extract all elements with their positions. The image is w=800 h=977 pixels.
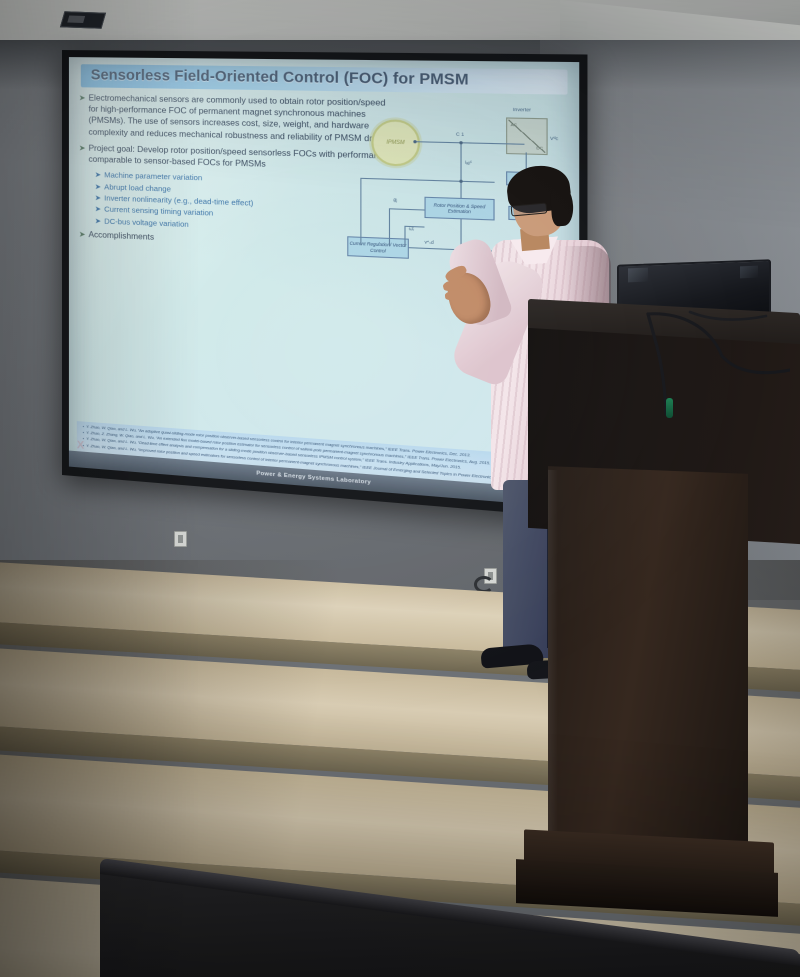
signal-label-theta: θ̂ᵣ — [393, 198, 397, 203]
inverter-label: Inverter — [513, 107, 531, 113]
presenter-hair-side — [550, 183, 575, 226]
inverter-ac-label: AC — [511, 122, 517, 128]
slide-title: Sensorless Field-Oriented Control (FOC) … — [91, 67, 561, 90]
subbullet-text: DC-bus voltage variation — [104, 216, 189, 230]
lecture-hall-photo: Sensorless Field-Oriented Control (FOC) … — [0, 0, 800, 977]
diagram-node — [413, 140, 416, 143]
signal-label-vdc: Vᵈc — [550, 136, 558, 142]
subbullet-marker-icon: ➤ — [95, 193, 101, 204]
diagram-wire — [404, 226, 405, 247]
current-regulation-block: Current Regulation/ Vector Control — [347, 236, 409, 259]
slide-footer-label: Power & Energy Systems Laboratory — [256, 471, 371, 486]
signal-label-c1: C 1 — [456, 131, 464, 137]
subbullet-marker-icon: ➤ — [95, 216, 101, 227]
ipmsm-machine-icon: IPMSM — [371, 119, 420, 167]
citation-marker-icon: ▪ — [83, 431, 84, 436]
wall-outlet — [174, 531, 187, 547]
diagram-wire — [360, 178, 361, 245]
signal-label-iabc: iₐᵦᶜ — [465, 159, 472, 165]
slide-subbullet-list: ➤ Machine parameter variation ➤ Abrupt l… — [95, 170, 345, 236]
bullet-marker-icon: ➤ — [79, 142, 86, 153]
diagram-wire — [404, 226, 424, 228]
laptop-glint — [740, 266, 758, 279]
bullet-marker-icon: ➤ — [79, 92, 86, 103]
subbullet-marker-icon: ➤ — [95, 170, 101, 181]
diagram-wire — [389, 208, 425, 210]
inverter-dc-label: DC — [536, 145, 543, 151]
diagram-wire — [389, 208, 390, 246]
subbullet-marker-icon: ➤ — [95, 205, 101, 216]
ceiling-vent-icon — [60, 11, 106, 28]
podium-shaft — [548, 466, 748, 874]
diagram-node — [459, 141, 462, 144]
signal-label-vref: v*ₛd — [424, 239, 433, 246]
laptop-glint — [628, 268, 648, 283]
microphone-tip — [666, 398, 673, 418]
signal-label-omega: ω̂ᵣ — [409, 226, 414, 232]
subbullet-marker-icon: ➤ — [95, 182, 101, 193]
podium-shaft-edge — [548, 470, 558, 870]
inverter-block: AC DC — [506, 117, 548, 155]
slide-logo: X — [77, 439, 84, 452]
citation-marker-icon: ▪ — [83, 424, 84, 429]
subbullet-text: Abrupt load change — [104, 182, 171, 195]
bullet-marker-icon: ➤ — [79, 229, 86, 241]
